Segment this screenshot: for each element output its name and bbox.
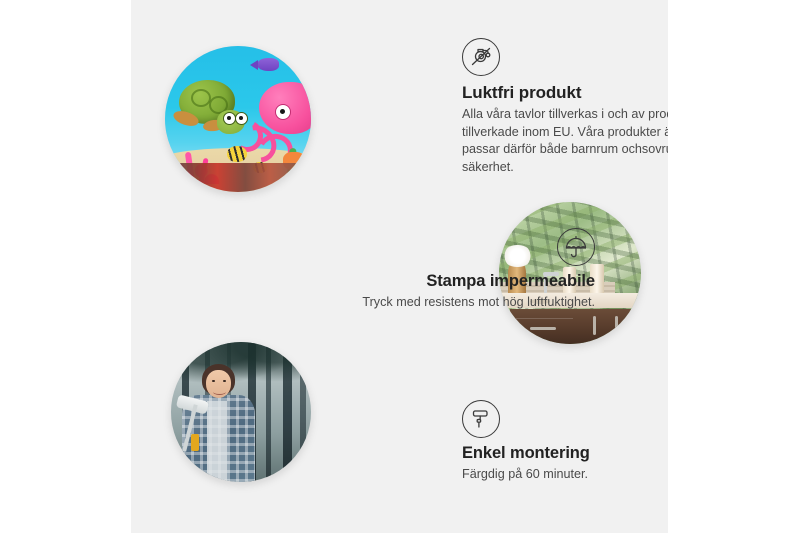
shirt-inner-layer [207, 401, 227, 482]
feature-title: Stampa impermeabile [343, 272, 595, 291]
feature-title: Luktfri produkt [462, 83, 668, 103]
paint-roller-grip [191, 434, 199, 451]
purple-fish [257, 58, 279, 71]
feature-title: Enkel montering [462, 444, 668, 463]
underwater-cartoon-photo [165, 46, 311, 192]
feature-description: Alla våra tavlor tillverkas i och av pro… [462, 106, 668, 176]
smile [213, 388, 226, 395]
painter-forest-photo [171, 342, 311, 482]
product-features-infographic: Luktfri produkt Alla våra tavlor tillver… [0, 0, 800, 533]
umbrella-icon [557, 228, 595, 266]
eye [223, 380, 226, 382]
cabinet-handle [615, 316, 618, 336]
cabinet-handle [593, 316, 596, 336]
content-panel: Luktfri produkt Alla våra tavlor tillver… [131, 0, 668, 533]
feature-description: Tryck med resistens mot hög luftfuktighe… [343, 294, 595, 312]
feature-waterproof: Stampa impermeabile Tryck med resistens … [343, 228, 595, 312]
feature-odorless: Luktfri produkt Alla våra tavlor tillver… [462, 38, 668, 176]
paint-roller-icon [462, 400, 500, 438]
feature-description: Färgdig på 60 minuter. [462, 466, 668, 484]
feature-easy-install: Enkel montering Färgdig på 60 minuter. [462, 400, 668, 484]
eye [212, 380, 215, 382]
octopus-eye [275, 104, 291, 120]
drawer-handle [530, 327, 556, 330]
no-fragrance-icon [462, 38, 500, 76]
room-strip [165, 163, 311, 192]
vanity-drawer [516, 318, 573, 332]
striped-fish [227, 146, 247, 162]
tree-canopy [171, 342, 311, 390]
